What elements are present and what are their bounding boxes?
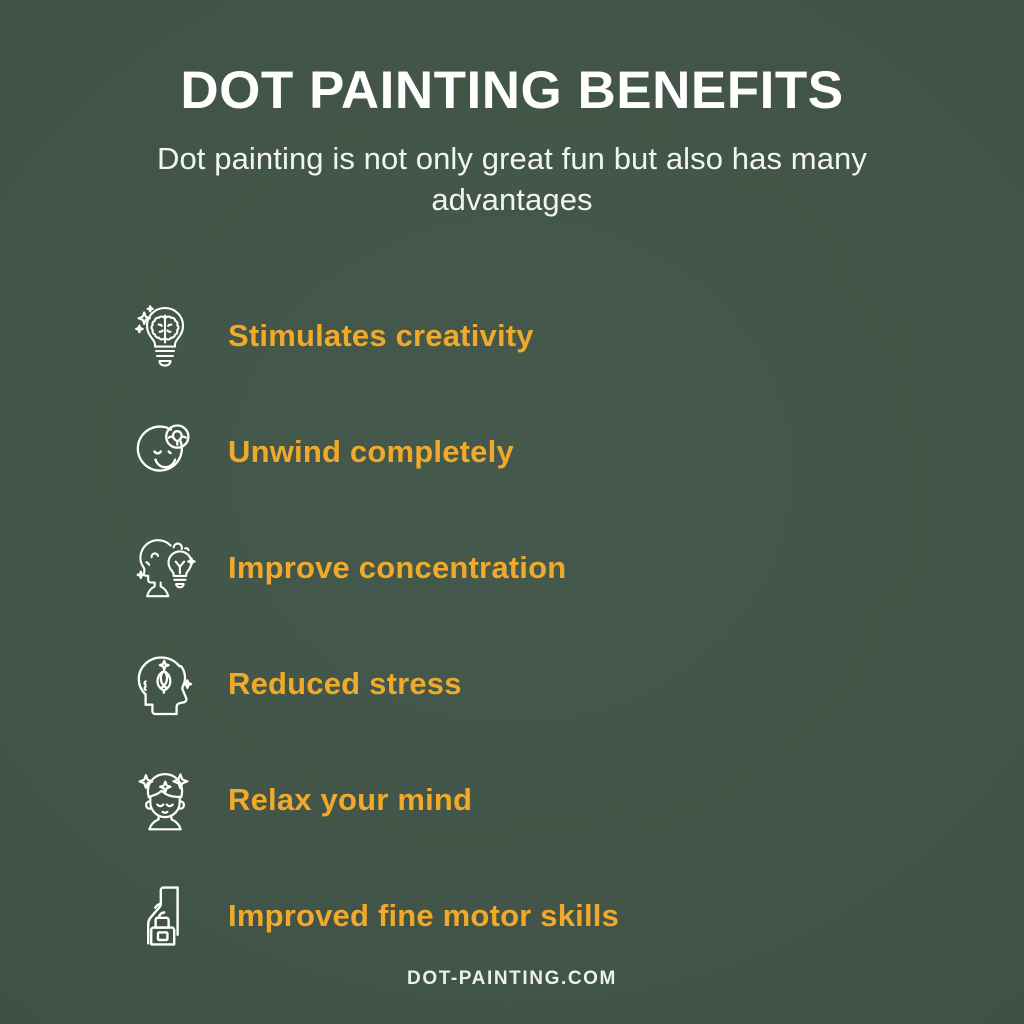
- head-lotus-icon: [132, 647, 198, 721]
- benefit-label: Relax your mind: [228, 782, 472, 818]
- smiley-flower-icon: [132, 415, 198, 489]
- site-url: DOT-PAINTING.COM: [407, 968, 617, 989]
- benefit-label: Stimulates creativity: [228, 318, 534, 354]
- list-item: Improved fine motor skills: [0, 858, 1024, 974]
- footer: DOT-PAINTING.COM: [0, 968, 1024, 990]
- benefit-label: Reduced stress: [228, 666, 462, 702]
- page-subtitle: Dot painting is not only great fun but a…: [142, 139, 882, 220]
- relaxed-face-icon: [132, 763, 198, 837]
- benefit-label: Unwind completely: [228, 434, 514, 470]
- list-item: Improve concentration: [0, 510, 1024, 626]
- hand-tool-icon: [132, 879, 198, 953]
- benefit-label: Improve concentration: [228, 550, 566, 586]
- header: DOT PAINTING BENEFITS Dot painting is no…: [0, 0, 1024, 220]
- head-lightbulb-icon: [132, 531, 198, 605]
- list-item: Relax your mind: [0, 742, 1024, 858]
- list-item: Unwind completely: [0, 394, 1024, 510]
- benefit-label: Improved fine motor skills: [228, 898, 619, 934]
- benefits-list: Stimulates creativity Unwind completely: [0, 278, 1024, 974]
- page-title: DOT PAINTING BENEFITS: [0, 64, 1024, 117]
- brain-lightbulb-icon: [132, 299, 198, 373]
- list-item: Reduced stress: [0, 626, 1024, 742]
- list-item: Stimulates creativity: [0, 278, 1024, 394]
- infographic-poster: DOT PAINTING BENEFITS Dot painting is no…: [0, 0, 1024, 1024]
